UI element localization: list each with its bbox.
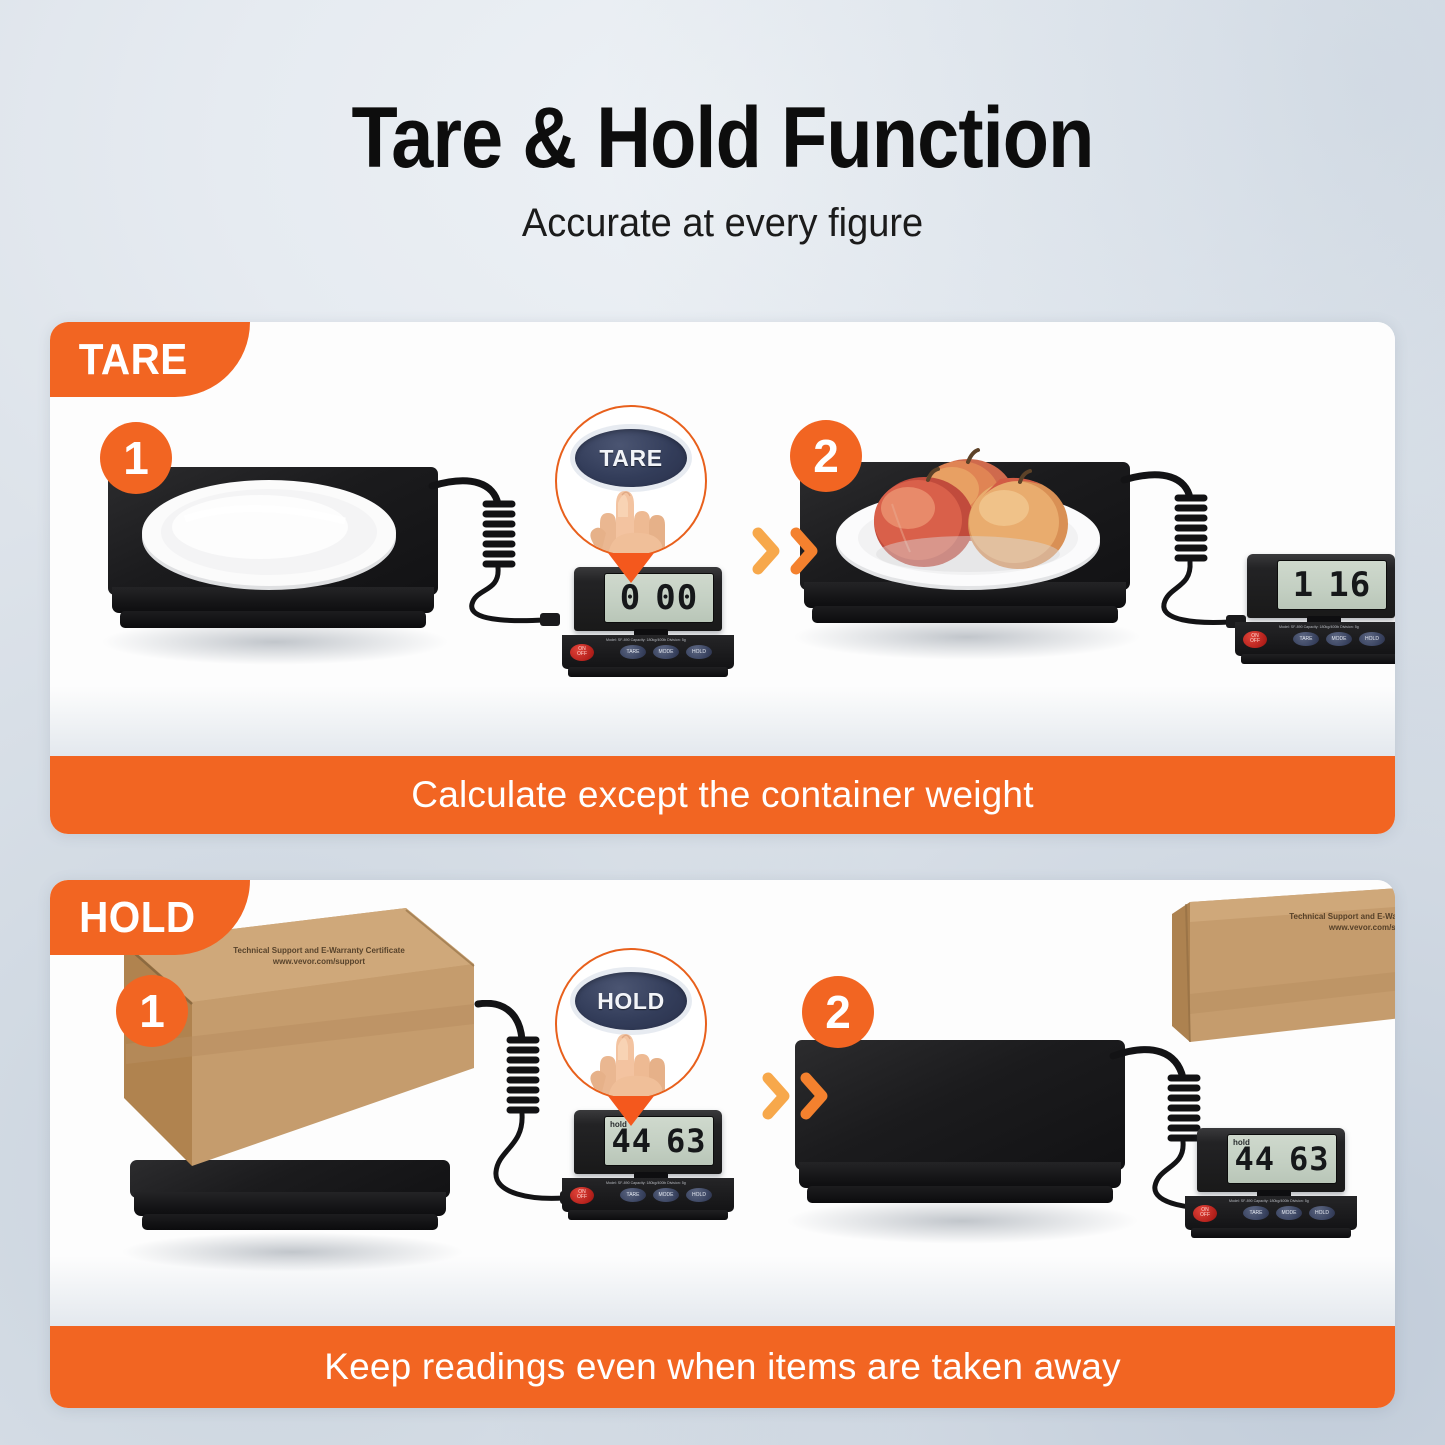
keypad-tare-button[interactable]: TARE [1293,632,1319,646]
indicator-spec-print: Model: SF-890 Capacity: 180kg/400lb Divi… [606,638,686,642]
pointing-hand-icon [570,1008,692,1100]
indicator-foot [568,1210,728,1220]
step-number-hold-2: 2 [802,976,874,1048]
lcd-screen: hold 44 63 [1227,1134,1337,1184]
scale-indicator-tare-1: 0 00 ON OFF TARE MODE [562,567,734,679]
lcd-value-left: 44 [611,1122,652,1160]
indicator-foot [1241,654,1395,664]
lcd-value: 44 63 [1228,1135,1336,1183]
keypad-hold-label: HOLD [1315,1210,1329,1216]
carton-print-text: Technical Support and E-Warranty Certifi… [224,946,414,968]
indicator-keypad: ON OFF TARE MODE HOLD Model: SF-890 Capa… [562,1178,734,1212]
lcd-screen: 1 16 [1277,560,1387,610]
platform-side [134,1192,446,1216]
carton-print-line2: www.vevor.com/support [1280,923,1395,934]
keypad-mode-button[interactable]: MODE [653,645,679,659]
lcd-value: 1 16 [1278,561,1386,609]
tare-caption-text: Calculate except the container weight [411,774,1033,816]
hold-stage: Technical Support and E-Warranty Certifi… [50,880,1395,1326]
keypad-hold-button[interactable]: HOLD [686,1188,712,1202]
keypad-hold-label: HOLD [692,649,706,655]
platform-top [795,1040,1125,1170]
white-plate-with-apples [832,442,1104,592]
power-button-label-off: OFF [577,652,587,657]
keypad-tare-label: TARE [1300,636,1313,642]
carton-print-line1: Technical Support and E-Warranty Certifi… [1280,912,1395,923]
page-title: Tare & Hold Function [87,95,1359,181]
power-button[interactable]: ON OFF [570,1187,594,1204]
hold-card: Technical Support and E-Warranty Certifi… [50,880,1395,1408]
power-button-label-off: OFF [577,1195,587,1200]
lcd-value-left: 44 [1234,1140,1275,1178]
callout-pointer-arrow [608,1096,654,1126]
lcd-value-left: 0 [620,578,641,618]
carton-print-line1: Technical Support and E-Warranty Certifi… [224,946,414,957]
callout-circle: HOLD [555,948,707,1100]
plate-svg [140,479,398,591]
step-number-tare-2: 2 [790,420,862,492]
lcd-value-right: 16 [1328,565,1371,605]
platform-base [120,611,426,628]
scale-indicator-hold-2: hold 44 63 ON OFF TARE MODE [1185,1128,1357,1240]
platform-shadow [120,1232,465,1272]
tare-card: 1 TARE [50,322,1395,834]
indicator-spec-print: Model: SF-890 Capacity: 180kg/400lb Divi… [1229,1199,1309,1203]
chevron-right-icon [760,1070,794,1122]
keypad-hold-button[interactable]: HOLD [686,645,712,659]
keypad-mode-label: MODE [1282,1210,1297,1216]
carton-print-text: Technical Support and E-Warranty Certifi… [1280,912,1395,934]
pointing-hand-icon [570,465,692,557]
keypad-mode-button[interactable]: MODE [1326,632,1352,646]
keypad-tare-button[interactable]: TARE [620,1188,646,1202]
tare-caption-bar: Calculate except the container weight [50,756,1395,834]
indicator-keypad: ON OFF TARE MODE HOLD Model: SF-890 Capa… [562,635,734,669]
indicator-keypad: ON OFF TARE MODE HOLD Model: SF-890 Capa… [1185,1196,1357,1230]
keypad-tare-label: TARE [627,649,640,655]
power-button[interactable]: ON OFF [570,644,594,661]
keypad-hold-label: HOLD [1365,636,1379,642]
power-button[interactable]: ON OFF [1243,631,1267,648]
indicator-keypad: ON OFF TARE MODE HOLD Model: SF-890 Capa… [1235,622,1395,656]
keypad-hold-button[interactable]: HOLD [1309,1206,1335,1220]
chevron-right-icon [788,525,822,577]
scale-indicator-hold-1: hold 44 63 ON OFF TARE MODE [562,1110,734,1222]
platform-base [812,606,1118,623]
apples-on-plate-svg [832,442,1104,592]
lcd-value-right: 63 [666,1122,707,1160]
indicator-spec-print: Model: SF-890 Capacity: 180kg/400lb Divi… [606,1181,686,1185]
lcd-value-left: 1 [1293,565,1314,605]
power-button-label-off: OFF [1200,1213,1210,1218]
keypad-mode-label: MODE [659,649,674,655]
chevron-right-icon [750,525,784,577]
hold-caption-bar: Keep readings even when items are taken … [50,1326,1395,1408]
keypad-tare-button[interactable]: TARE [620,645,646,659]
hold-callout: HOLD [555,948,707,1100]
keypad-mode-button[interactable]: MODE [1276,1206,1302,1220]
white-plate-empty [140,479,398,591]
platform-base [807,1186,1113,1203]
tare-section-badge-label: TARE [79,335,188,385]
tare-callout: TARE [555,405,707,557]
keypad-tare-button[interactable]: TARE [1243,1206,1269,1220]
keypad-hold-button[interactable]: HOLD [1359,632,1385,646]
indicator-spec-print: Model: SF-890 Capacity: 180kg/400lb Divi… [1279,625,1359,629]
indicator-foot [1191,1228,1351,1238]
stage-ground-shadow [50,686,1395,756]
hold-section-badge-label: HOLD [79,893,196,943]
keypad-mode-button[interactable]: MODE [653,1188,679,1202]
progress-chevrons-tare [750,525,822,577]
page-subtitle: Accurate at every figure [36,201,1409,246]
keypad-hold-label: HOLD [692,1192,706,1198]
lcd-value-right: 63 [1289,1140,1330,1178]
carton-print-line2: www.vevor.com/support [224,957,414,968]
power-button-label-off: OFF [1250,639,1260,644]
header: Tare & Hold Function Accurate at every f… [0,95,1445,246]
platform-side [799,1162,1121,1188]
callout-pointer-arrow [608,553,654,583]
callout-circle: TARE [555,405,707,557]
keypad-tare-label: TARE [1250,1210,1263,1216]
indicator-foot [568,667,728,677]
platform-base [142,1214,438,1230]
scale-indicator-tare-2: 1 16 ON OFF TARE MODE [1235,554,1395,666]
tare-stage: 1 TARE [50,322,1395,756]
lcd-value-right: 00 [655,578,698,618]
keypad-mode-label: MODE [1332,636,1347,642]
chevron-right-icon [798,1070,832,1122]
progress-chevrons-hold [760,1070,832,1122]
cardboard-box-set-aside: Technical Support and E-Warranty Certifi… [1160,880,1395,1096]
step-number-tare-1: 1 [100,422,172,494]
power-button[interactable]: ON OFF [1193,1205,1217,1222]
keypad-tare-label: TARE [627,1192,640,1198]
step-number-hold-1: 1 [116,975,188,1047]
hold-caption-text: Keep readings even when items are taken … [324,1346,1121,1388]
scale-platform-hold-2 [795,1040,1125,1240]
keypad-mode-label: MODE [659,1192,674,1198]
platform-shadow [785,1198,1140,1244]
